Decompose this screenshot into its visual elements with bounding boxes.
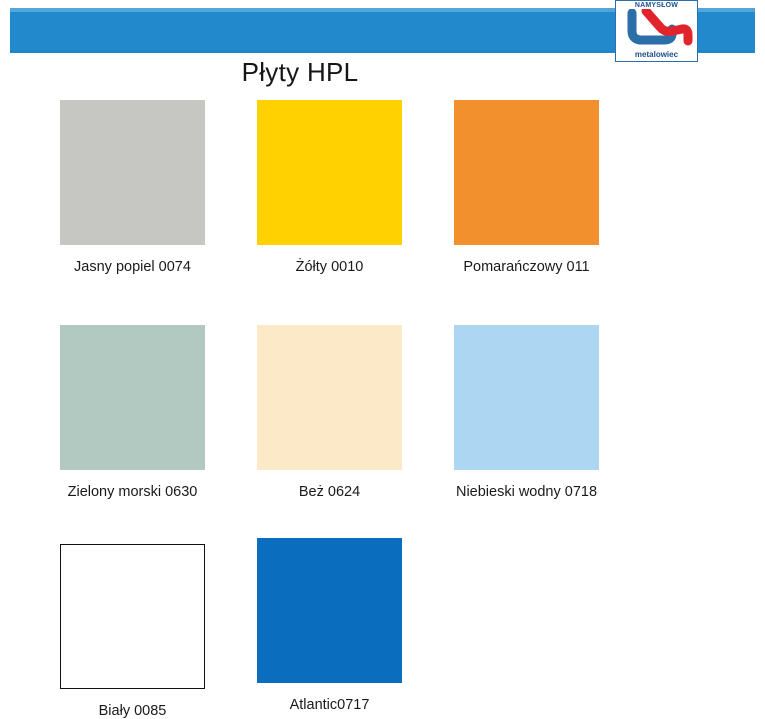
- swatch-label-pomaranczowy-011: Pomarańczowy 011: [463, 259, 589, 275]
- swatch-color-niebieski-wodny-0718: [454, 325, 599, 470]
- swatch-cell-pomaranczowy-011[interactable]: Pomarańczowy 011: [454, 100, 599, 275]
- swatch-label-zolty-0010: Żółty 0010: [296, 259, 364, 275]
- swatch-cell-zolty-0010[interactable]: Żółty 0010: [257, 100, 402, 275]
- swatch-cell-zielony-morski-0630[interactable]: Zielony morski 0630: [60, 325, 205, 500]
- logo-top-text: NAMYSŁÓW: [616, 2, 697, 9]
- swatch-color-jasny-popiel-0074: [60, 100, 205, 245]
- swatch-color-bialy-0085: [60, 544, 205, 689]
- swatch-row-1: Jasny popiel 0074 Żółty 0010 Pomarańczow…: [60, 100, 705, 275]
- swatch-row-3: Biały 0085 Atlantic0717: [60, 544, 705, 719]
- swatch-color-pomaranczowy-011: [454, 100, 599, 245]
- row-spacer-1: [60, 275, 705, 325]
- header-banner: NAMYSŁÓW metalowiec: [0, 0, 765, 60]
- swatch-label-zielony-morski-0630: Zielony morski 0630: [68, 484, 198, 500]
- page-title: Płyty HPL: [0, 57, 600, 88]
- swatch-cell-bialy-0085[interactable]: Biały 0085: [60, 544, 205, 719]
- swatch-color-bez-0624: [257, 325, 402, 470]
- swatch-color-atlantic-0717: [257, 538, 402, 683]
- swatch-color-zielony-morski-0630: [60, 325, 205, 470]
- swatch-color-zolty-0010: [257, 100, 402, 245]
- swatch-cell-niebieski-wodny-0718[interactable]: Niebieski wodny 0718: [454, 325, 599, 500]
- swatch-cell-atlantic-0717[interactable]: Atlantic0717: [257, 538, 402, 713]
- swatch-label-niebieski-wodny-0718: Niebieski wodny 0718: [456, 484, 597, 500]
- swatch-cell-jasny-popiel-0074[interactable]: Jasny popiel 0074: [60, 100, 205, 275]
- color-swatch-grid: Jasny popiel 0074 Żółty 0010 Pomarańczow…: [60, 100, 705, 719]
- swatch-cell-bez-0624[interactable]: Beż 0624: [257, 325, 402, 500]
- swatch-label-bez-0624: Beż 0624: [299, 484, 360, 500]
- logo-chair-icon: [620, 9, 694, 53]
- swatch-label-jasny-popiel-0074: Jasny popiel 0074: [74, 259, 191, 275]
- swatch-label-atlantic-0717: Atlantic0717: [290, 697, 370, 713]
- logo-bottom-text: metalowiec: [616, 50, 697, 59]
- swatch-label-bialy-0085: Biały 0085: [99, 703, 167, 719]
- swatch-row-2: Zielony morski 0630 Beż 0624 Niebieski w…: [60, 325, 705, 500]
- company-logo: NAMYSŁÓW metalowiec: [615, 0, 698, 62]
